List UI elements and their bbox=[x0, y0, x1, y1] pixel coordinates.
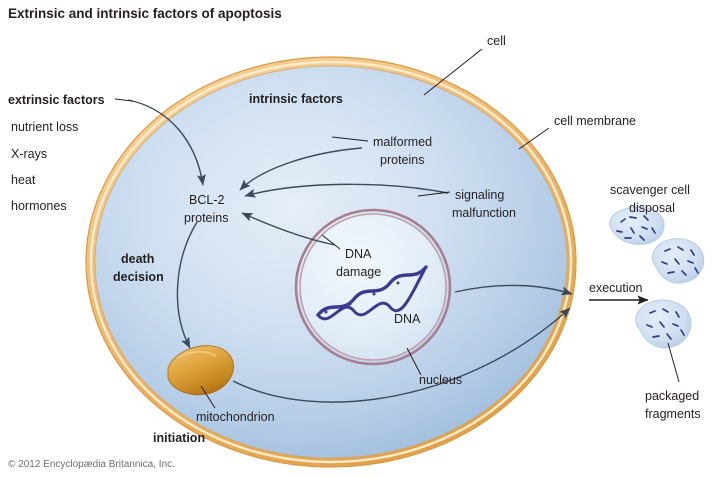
copyright-credit: © 2012 Encyclopædia Britannica, Inc. bbox=[8, 459, 175, 470]
label-packaged-line2: fragments bbox=[645, 407, 701, 421]
extrinsic-item-nutrient-loss: nutrient loss bbox=[11, 120, 78, 134]
diagram-canvas: Extrinsic and intrinsic factors of apopt… bbox=[0, 0, 720, 478]
page-title: Extrinsic and intrinsic factors of apopt… bbox=[8, 6, 282, 21]
fragment-blob bbox=[636, 300, 691, 348]
extrinsic-item-heat: heat bbox=[11, 173, 36, 187]
label-cell-membrane: cell membrane bbox=[554, 114, 636, 128]
nucleus-interior bbox=[300, 214, 446, 360]
label-death-decision-line2: decision bbox=[113, 270, 164, 284]
label-mitochondrion: mitochondrion bbox=[196, 410, 275, 424]
label-cell: cell bbox=[487, 34, 506, 48]
label-execution: execution bbox=[589, 281, 643, 295]
fragment-blob bbox=[652, 239, 703, 283]
extrinsic-item-hormones: hormones bbox=[11, 199, 67, 213]
label-bcl2-line1: BCL-2 bbox=[189, 193, 224, 207]
label-malformed-line1: malformed bbox=[373, 135, 432, 149]
label-scavenger-line1: scavenger cell bbox=[610, 183, 690, 197]
label-dna: DNA bbox=[394, 312, 421, 326]
label-signaling-line2: malfunction bbox=[452, 206, 516, 220]
label-signaling-line1: signaling bbox=[455, 188, 504, 202]
label-initiation: initiation bbox=[153, 431, 205, 445]
extrinsic-factors-heading: extrinsic factors bbox=[8, 93, 105, 107]
label-nucleus: nucleus bbox=[419, 373, 462, 387]
nucleus-body bbox=[296, 210, 450, 364]
label-bcl2-line2: proteins bbox=[184, 211, 228, 225]
intrinsic-factors-heading: intrinsic factors bbox=[249, 92, 343, 106]
label-dna-damage-line1: DNA bbox=[345, 247, 372, 261]
extrinsic-item-x-rays: X-rays bbox=[11, 147, 47, 161]
label-death-decision-line1: death bbox=[121, 252, 154, 266]
apoptosis-diagram-page: Extrinsic and intrinsic factors of apopt… bbox=[0, 0, 720, 478]
label-scavenger-line2: disposal bbox=[629, 201, 675, 215]
leader-packaged-fragments bbox=[668, 343, 679, 382]
label-packaged-line1: packaged bbox=[645, 389, 699, 403]
packaged-fragments-group bbox=[610, 207, 704, 348]
label-dna-damage-line2: damage bbox=[336, 265, 381, 279]
label-malformed-line2: proteins bbox=[380, 153, 424, 167]
